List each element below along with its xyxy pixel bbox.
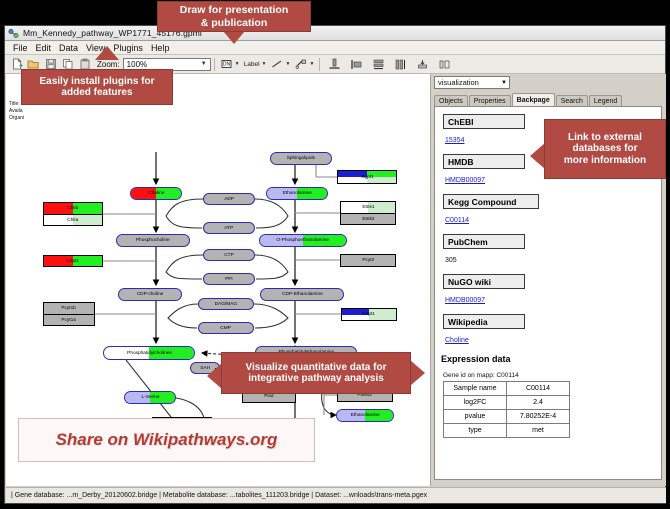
node-pcyt1b[interactable]: Pcyt1b xyxy=(43,302,95,314)
callout-plugins-text: Easily install plugins for added feature… xyxy=(39,76,154,99)
tab-backpage[interactable]: Backpage xyxy=(512,93,555,107)
menu-item-file[interactable]: File xyxy=(9,43,32,53)
node-cmp[interactable]: CMP xyxy=(198,322,254,334)
node-sphingolipids[interactable]: Sphingolipids xyxy=(270,152,332,165)
table-row: Sample name C00114 xyxy=(444,382,570,396)
node-label: CTP xyxy=(224,253,234,258)
node-label: Ethanolamine xyxy=(282,191,311,196)
callout-link-text: Link to external databases for more info… xyxy=(564,132,646,167)
chevron-down-icon: ▼ xyxy=(201,61,209,67)
cell-key: type xyxy=(444,424,507,438)
node-label: Chpt1 xyxy=(67,259,80,264)
label-tool-caption: Label xyxy=(242,61,262,68)
shape-tool-dropdown[interactable]: ▼ xyxy=(292,56,316,73)
node-pcyt1a[interactable]: Pcyt1a xyxy=(43,314,95,326)
node-label: Cept1 xyxy=(363,312,376,317)
node-cdp-ethanolamine[interactable]: CDP-Ethanolamine xyxy=(260,288,344,301)
node-label: Pcyt2 xyxy=(362,258,374,263)
datanode-icon[interactable]: DN xyxy=(218,56,235,73)
node-ethanolamine-right[interactable]: Ethanolamine xyxy=(336,409,394,422)
node-label: CDP-choline xyxy=(137,292,164,297)
shape-icon[interactable] xyxy=(292,56,309,73)
node-etnk1[interactable]: Etnk1 xyxy=(340,201,396,213)
cell-value: C00114 xyxy=(507,382,570,396)
node-dagmag[interactable]: DAG/MAG xyxy=(198,298,254,310)
zoom-label: Zoom: xyxy=(97,60,120,69)
node-phosphatidylcholines[interactable]: Phosphatidylcholines xyxy=(103,346,195,360)
expression-table: Sample name C00114 log2FC 2.4 pvalue 7.8… xyxy=(443,381,570,438)
share-banner: Share on Wikipathways.org xyxy=(18,418,315,462)
db-link-kegg-compound[interactable]: C00114 xyxy=(445,217,469,224)
zoom-combobox[interactable]: 100% ▼ xyxy=(123,58,211,71)
node-chka[interactable]: Chka xyxy=(43,214,103,226)
title-bar: Mm_Kennedy_pathway_WP1771_45176.gpml xyxy=(5,26,665,41)
align-columns-icon[interactable] xyxy=(392,56,409,73)
db-link-hmdb[interactable]: HMDB00097 xyxy=(445,177,485,184)
db-header-chebi: ChEBI xyxy=(443,114,525,129)
db-link-chebi[interactable]: 15354 xyxy=(445,137,464,144)
visualization-value: visualization xyxy=(438,78,479,87)
table-row: pvalue 7.80252E-4 xyxy=(444,410,570,424)
node-pcyt2[interactable]: Pcyt2 xyxy=(340,254,396,267)
node-choline-top[interactable]: Choline xyxy=(130,187,182,200)
chevron-down-icon: ▼ xyxy=(501,80,507,86)
node-label: PPi xyxy=(225,277,232,282)
db-link-wikipedia[interactable]: Choline xyxy=(445,337,469,344)
cell-value: met xyxy=(507,424,570,438)
node-phosphocholine[interactable]: Phosphocholine xyxy=(116,234,190,247)
node-label: Phosphatidylcholines xyxy=(127,351,172,356)
chevron-down-icon[interactable]: ▼ xyxy=(285,61,292,67)
menu-item-edit[interactable]: Edit xyxy=(32,43,56,53)
node-l-serine-left[interactable]: L-Serine xyxy=(124,391,176,404)
table-row: type met xyxy=(444,424,570,438)
line-icon[interactable] xyxy=(268,56,285,73)
callout-visualize: Visualize quantitative data for integrat… xyxy=(222,353,410,393)
datanode-tool-dropdown[interactable]: DN ▼ xyxy=(218,56,242,73)
node-label: ATP xyxy=(225,226,234,231)
chevron-down-icon[interactable]: ▼ xyxy=(309,61,316,67)
cell-value: 2.4 xyxy=(507,396,570,410)
callout-draw-text: Draw for presentation & publication xyxy=(180,4,289,28)
callout-link: Link to external databases for more info… xyxy=(545,120,665,178)
node-label: Ptdss2 xyxy=(358,393,373,398)
node-etnk2[interactable]: Etnk2 xyxy=(340,213,396,225)
node-ppi[interactable]: PPi xyxy=(203,273,255,285)
node-label: Sgpl1 xyxy=(361,175,373,180)
node-cept1[interactable]: Cept1 xyxy=(341,308,397,321)
align-bottom-icon[interactable] xyxy=(326,56,343,73)
menu-item-data[interactable]: Data xyxy=(55,43,82,53)
svg-text:DN: DN xyxy=(223,62,231,68)
db-header-hmdb: HMDB xyxy=(443,154,525,169)
cell-value: 7.80252E-4 xyxy=(507,410,570,424)
node-label: Phosphocholine xyxy=(136,238,170,243)
menu-item-help[interactable]: Help xyxy=(147,43,174,53)
node-label: Pcyt1a xyxy=(62,318,77,323)
node-label: Etnk1 xyxy=(362,205,374,210)
node-chkb[interactable]: Chkb xyxy=(43,202,103,214)
node-label: CDP-Ethanolamine xyxy=(282,292,323,297)
share-text: Share on Wikipathways.org xyxy=(56,430,278,450)
cell-key: log2FC xyxy=(444,396,507,410)
node-label: L-Serine xyxy=(141,395,159,400)
node-label: Sphingolipids xyxy=(287,156,315,161)
toolbar-separator xyxy=(319,58,320,71)
node-sgpl1[interactable]: Sgpl1 xyxy=(337,170,397,184)
node-label: Chkb xyxy=(67,206,78,211)
node-label: Pcyt1b xyxy=(62,306,77,311)
callout-visualize-text: Visualize quantitative data for integrat… xyxy=(246,362,387,385)
status-bar: | Gene database: ...m_Derby_20120602.bri… xyxy=(6,487,666,503)
node-label: O-Phosphoethanolamine xyxy=(277,238,330,243)
line-tool-dropdown[interactable]: ▼ xyxy=(268,56,292,73)
node-adp[interactable]: ADP xyxy=(203,193,255,205)
node-label: ADP xyxy=(224,197,234,202)
node-label: CMP xyxy=(221,326,232,331)
node-label: Choline xyxy=(148,191,164,196)
align-rows-icon[interactable] xyxy=(370,56,387,73)
callout-link-arrow xyxy=(530,143,545,169)
node-label: Chka xyxy=(67,218,78,223)
node-o-phosphoethanolamine[interactable]: O-Phosphoethanolamine xyxy=(259,234,347,247)
zoom-value: 100% xyxy=(127,60,147,69)
node-label: Ethanolamine xyxy=(350,413,379,418)
callout-plugins-arrow xyxy=(95,46,119,60)
node-label: Pisd xyxy=(264,394,273,399)
align-left-icon[interactable] xyxy=(348,56,365,73)
callout-draw: Draw for presentation & publication xyxy=(158,2,310,31)
pathvisio-icon xyxy=(8,28,19,39)
db-value-pubchem: 305 xyxy=(445,257,457,264)
chevron-down-icon[interactable]: ▼ xyxy=(235,61,242,67)
node-ctp[interactable]: CTP xyxy=(203,249,255,261)
toolbar-separator xyxy=(214,58,215,71)
callout-visualize-arrow-left xyxy=(207,363,222,389)
db-header-wikipedia: Wikipedia xyxy=(443,314,525,329)
gene-id-on-mapp: Gene id on mapp: C00114 xyxy=(443,372,661,379)
chevron-down-icon[interactable]: ▼ xyxy=(262,61,269,67)
node-atp[interactable]: ATP xyxy=(203,222,255,234)
label-tool-dropdown[interactable]: Label ▼ xyxy=(242,61,269,68)
cell-key: pvalue xyxy=(444,410,507,424)
node-label: Etnk2 xyxy=(362,217,374,222)
group-icon[interactable] xyxy=(436,56,453,73)
stack-icon[interactable] xyxy=(414,56,431,73)
node-cdp-choline[interactable]: CDP-choline xyxy=(118,288,182,301)
callout-plugins: Easily install plugins for added feature… xyxy=(22,70,172,104)
db-header-pubchem: PubChem xyxy=(443,234,525,249)
node-chpt1[interactable]: Chpt1 xyxy=(43,255,103,267)
node-ethanolamine-top[interactable]: Ethanolamine xyxy=(266,187,328,200)
expression-data-title: Expression data xyxy=(441,354,661,364)
db-header-kegg-compound: Kegg Compound xyxy=(443,194,539,209)
node-label: DAG/MAG xyxy=(215,302,237,307)
db-link-nugo-wiki[interactable]: HMDB00097 xyxy=(445,297,485,304)
status-text: | Gene database: ...m_Derby_20120602.bri… xyxy=(11,492,427,499)
table-row: log2FC 2.4 xyxy=(444,396,570,410)
db-header-nugo-wiki: NuGO wiki xyxy=(443,274,525,289)
cell-key: Sample name xyxy=(444,382,507,396)
callout-draw-arrow xyxy=(223,31,245,44)
visualization-select[interactable]: visualization ▼ xyxy=(434,76,510,89)
callout-visualize-arrow-right xyxy=(410,360,425,386)
